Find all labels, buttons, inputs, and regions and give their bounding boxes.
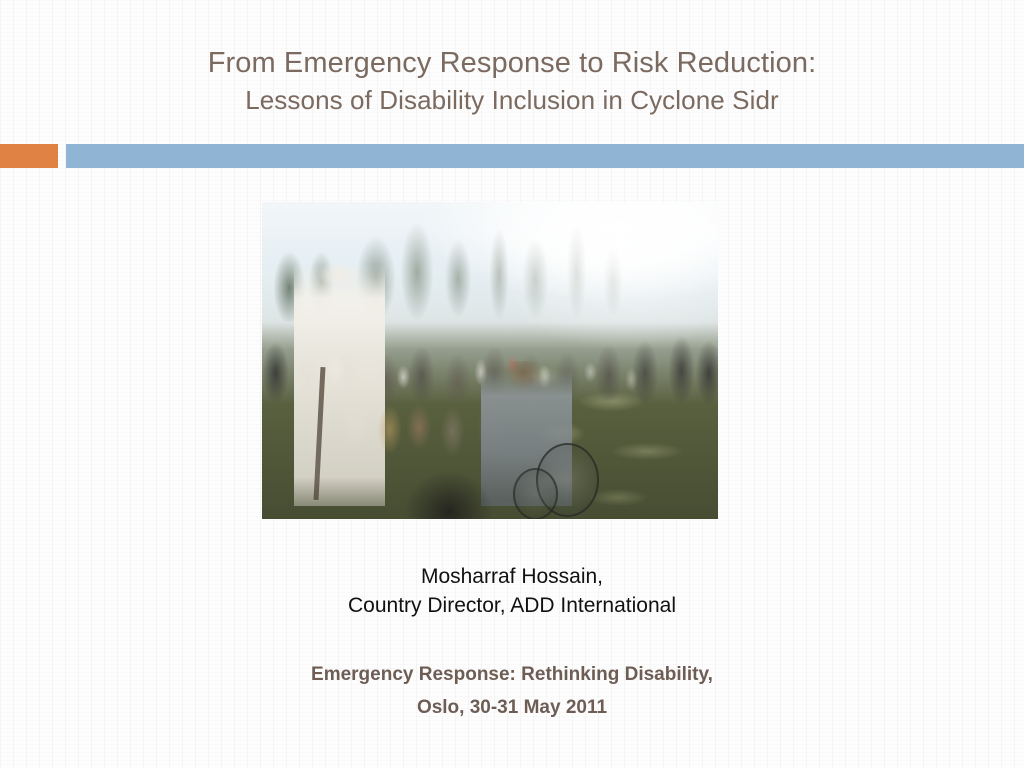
photo-haze-overlay (262, 202, 718, 519)
slide-title: From Emergency Response to Risk Reductio… (0, 44, 1024, 118)
speaker-credit: Mosharraf Hossain, Country Director, ADD… (0, 562, 1024, 620)
photo-canvas (262, 202, 718, 519)
speaker-name: Mosharraf Hossain, (0, 562, 1024, 591)
event-name: Emergency Response: Rethinking Disabilit… (0, 658, 1024, 691)
event-location-date: Oslo, 30-31 May 2011 (0, 691, 1024, 724)
title-line-secondary: Lessons of Disability Inclusion in Cyclo… (0, 82, 1024, 118)
crowd-photograph (262, 202, 718, 519)
speaker-role: Country Director, ADD International (0, 591, 1024, 620)
event-details: Emergency Response: Rethinking Disabilit… (0, 658, 1024, 724)
accent-bar-blue (66, 144, 1024, 168)
presentation-slide: From Emergency Response to Risk Reductio… (0, 0, 1024, 768)
title-line-primary: From Emergency Response to Risk Reductio… (0, 44, 1024, 82)
accent-bar-orange (0, 144, 58, 168)
